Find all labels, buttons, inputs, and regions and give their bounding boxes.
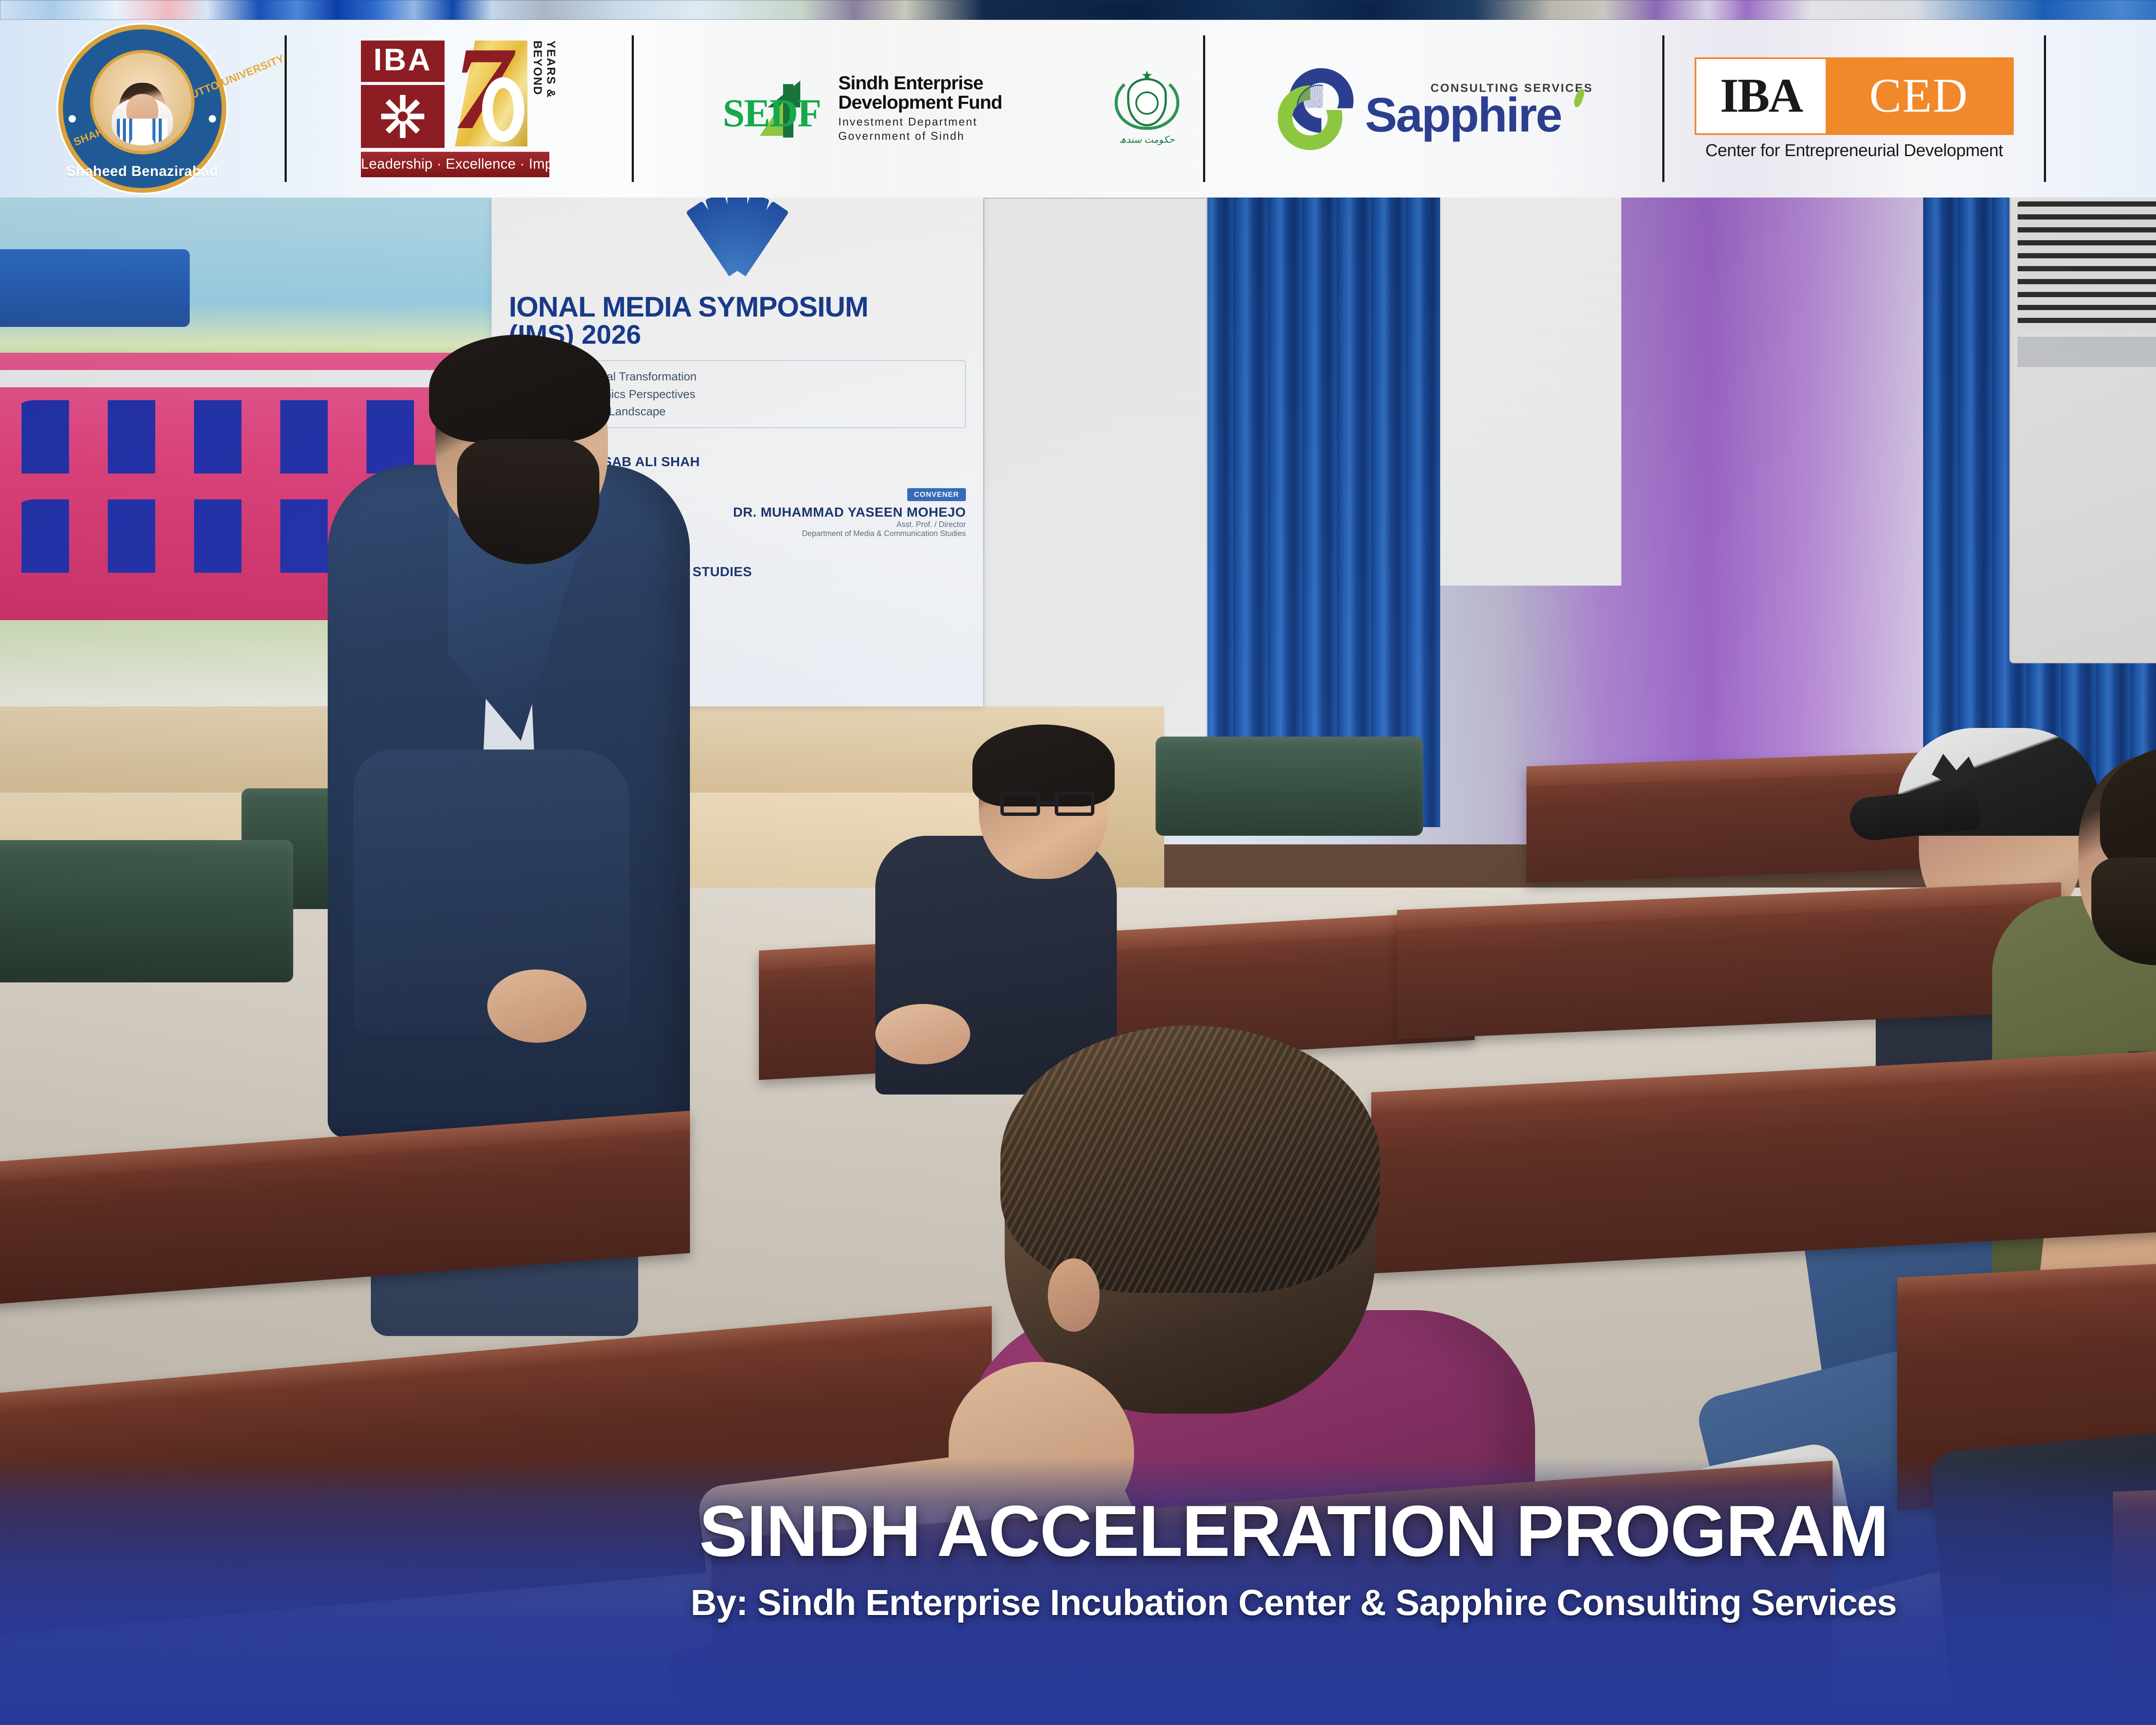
emblem-caption: حكومت سندھ <box>1112 134 1181 145</box>
backdrop-title: IONAL MEDIA SYMPOSIUM <box>509 292 966 321</box>
crest-open-book-icon <box>117 119 168 145</box>
backdrop-convener-chip: CONVENER <box>907 488 966 501</box>
green-bench-front <box>0 840 293 982</box>
sindh-government-emblem-icon: ★ حكومت سندھ <box>1112 63 1181 154</box>
iba-mark: IBA <box>361 41 445 148</box>
logo-divider-5 <box>2044 35 2046 182</box>
anniversary-side-label: YEARS & BEYOND <box>531 41 558 147</box>
sapphire-wordmark-block: CONSULTING SERVICES Sapphire <box>1365 82 1593 135</box>
backdrop-fan-icon <box>645 198 830 271</box>
foreground-student-ear <box>1048 1258 1100 1332</box>
iba-wordmark: IBA <box>361 41 445 82</box>
backdrop-year: (IMS) 2026 <box>509 321 966 349</box>
logo-sapphire: CONSULTING SERVICES Sapphire <box>1205 20 1662 198</box>
logo-government-of-sindh: ★ حكومت سندھ <box>1091 20 1203 198</box>
iba-asterisk-icon <box>381 95 424 138</box>
sbbu-crest-icon: SHAHEED BENAZIR BHUTTO UNIVERSITY Shahee… <box>63 29 222 188</box>
sedf-line-3: Investment Department <box>838 115 1002 129</box>
logo-divider-4 <box>1662 35 1664 182</box>
top-blurred-strip <box>0 0 2156 20</box>
footer-title-overlay: SINDH ACCELERATION PROGRAM By: Sindh Ent… <box>0 1458 2156 1725</box>
seventy-numeral-icon: 7 <box>455 41 527 147</box>
sedf-line-1: Sindh Enterprise <box>838 74 1002 93</box>
sedf-acronym: SEDF <box>723 95 821 131</box>
logo-sedf: SEDF Sindh Enterprise Development Fund I… <box>634 20 1091 198</box>
sedf-arrow-icon: SEDF <box>723 78 831 139</box>
logo-oric: RESEARCH INNOVATION COMMERCIALIZATION OR… <box>2046 20 2156 198</box>
crest-dot-left <box>69 115 76 122</box>
ac-grille-icon <box>2018 201 2156 331</box>
seventy-zero-glyph <box>482 77 524 142</box>
program-title: SINDH ACCELERATION PROGRAM <box>699 1495 1888 1567</box>
sedf-line-2: Development Fund <box>838 93 1002 113</box>
speaker-hair <box>429 335 610 442</box>
person-glasses-hands <box>875 1004 970 1064</box>
green-bench-back <box>1156 737 1423 836</box>
event-poster: SHAHEED BENAZIR BHUTTO UNIVERSITY Shahee… <box>0 0 2156 1725</box>
sponsor-logo-bar: SHAHEED BENAZIR BHUTTO UNIVERSITY Shahee… <box>0 20 2156 198</box>
logo-sbbu: SHAHEED BENAZIR BHUTTO UNIVERSITY Shahee… <box>0 20 285 198</box>
ced-caption: Center for Entrepreneurial Development <box>1695 141 2014 160</box>
ced-ced-label: CED <box>1826 59 2012 133</box>
sedf-line-4: Government of Sindh <box>838 129 1002 144</box>
speaker-beard <box>457 439 599 564</box>
ced-badge: IBA CED <box>1695 57 2014 135</box>
air-conditioner-unit <box>2009 198 2156 663</box>
ced-iba-label: IBA <box>1696 59 1826 133</box>
speaker-hands <box>487 969 586 1043</box>
iba-tagline: Leadership · Excellence · Impact <box>361 152 549 177</box>
sedf-text-block: Sindh Enterprise Development Fund Invest… <box>838 74 1002 144</box>
person-baseball-cap <box>1897 728 2100 836</box>
logo-divider-3 <box>1203 35 1205 182</box>
foreground-student-hair <box>1000 1026 1380 1293</box>
mural-window-row-1 <box>4 400 479 474</box>
wall-panel-center <box>983 198 1207 793</box>
crest-dot-right <box>209 115 216 122</box>
eyeglasses-icon <box>1000 792 1094 816</box>
logo-divider-1 <box>285 35 287 182</box>
crest-portrait <box>93 53 191 151</box>
iba-asterisk-box <box>361 85 445 148</box>
wall-panel-right <box>1440 198 1621 586</box>
logo-iba-ced: IBA CED Center for Entrepreneurial Devel… <box>1664 20 2044 198</box>
logo-iba-70: IBA 7 YEARS & BEYOND <box>287 20 632 198</box>
ac-band <box>2018 337 2156 367</box>
sapphire-brand-label: Sapphire <box>1365 95 1593 135</box>
sapphire-swirl-icon <box>1274 66 1359 151</box>
mural-blue-banner <box>0 249 190 327</box>
logo-divider-2 <box>632 35 634 182</box>
iba-anniversary-mark: 7 YEARS & BEYOND <box>455 41 558 147</box>
crest-campus-label: Shaheed Benazirabad <box>63 163 222 179</box>
blue-curtain-left <box>1199 198 1440 827</box>
program-subtitle: By: Sindh Enterprise Incubation Center &… <box>691 1582 1897 1624</box>
